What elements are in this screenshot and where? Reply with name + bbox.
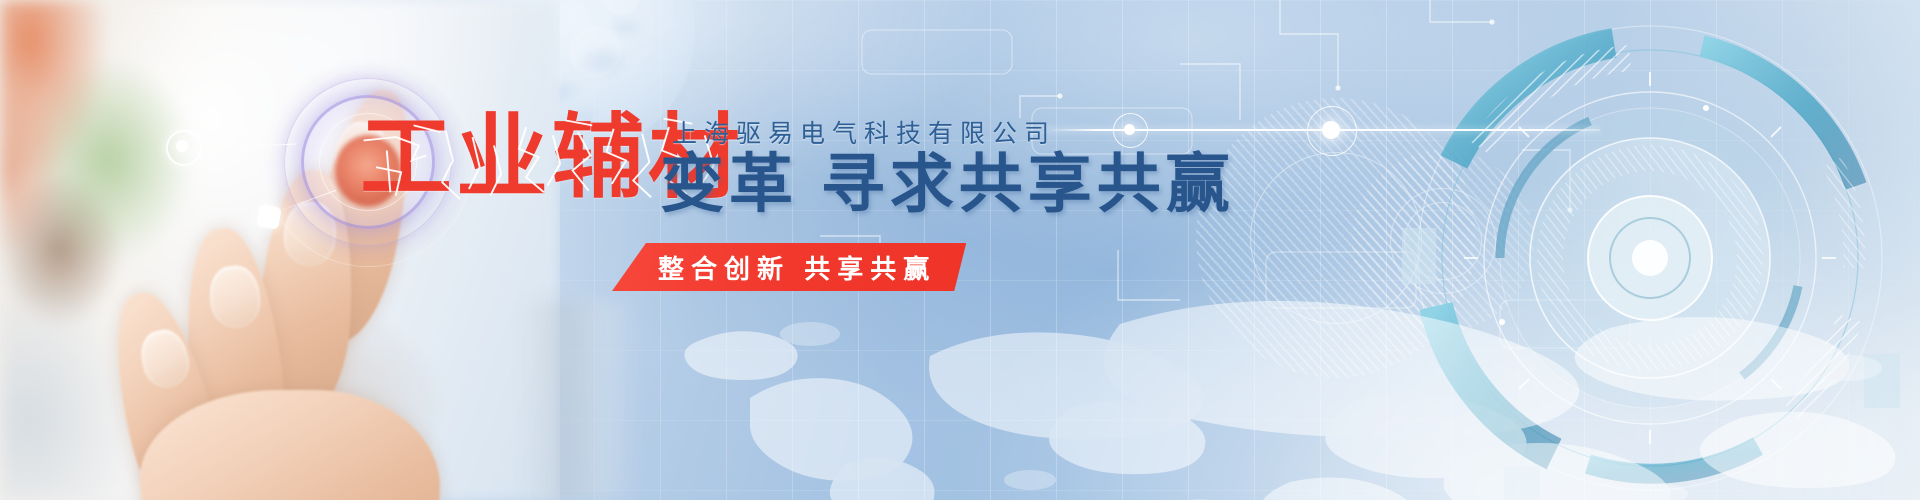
slogan-ribbon: 整合创新 共享共赢 xyxy=(612,243,966,291)
blurred-pillar xyxy=(520,300,640,500)
company-name: 上海驱易电气科技有限公司 xyxy=(672,114,1056,150)
beam-node-secondary-halo xyxy=(1113,113,1148,148)
hud-node-dot xyxy=(176,140,188,152)
hatched-circle-small xyxy=(1352,150,1534,332)
world-map-watermark xyxy=(600,268,1920,500)
hero-banner: 工业辅材 上海驱易电气科技有限公司 变革 寻求共 xyxy=(0,0,1920,500)
subheadline: 变革 寻求共享共赢 xyxy=(660,152,1235,216)
tech-circle-graphic xyxy=(1340,0,1920,500)
beam-node-halo xyxy=(1307,106,1357,156)
hud-node-square xyxy=(256,204,281,229)
hand-touch-photo xyxy=(0,0,560,500)
slogan-ribbon-text: 整合创新 共享共赢 xyxy=(658,249,936,286)
